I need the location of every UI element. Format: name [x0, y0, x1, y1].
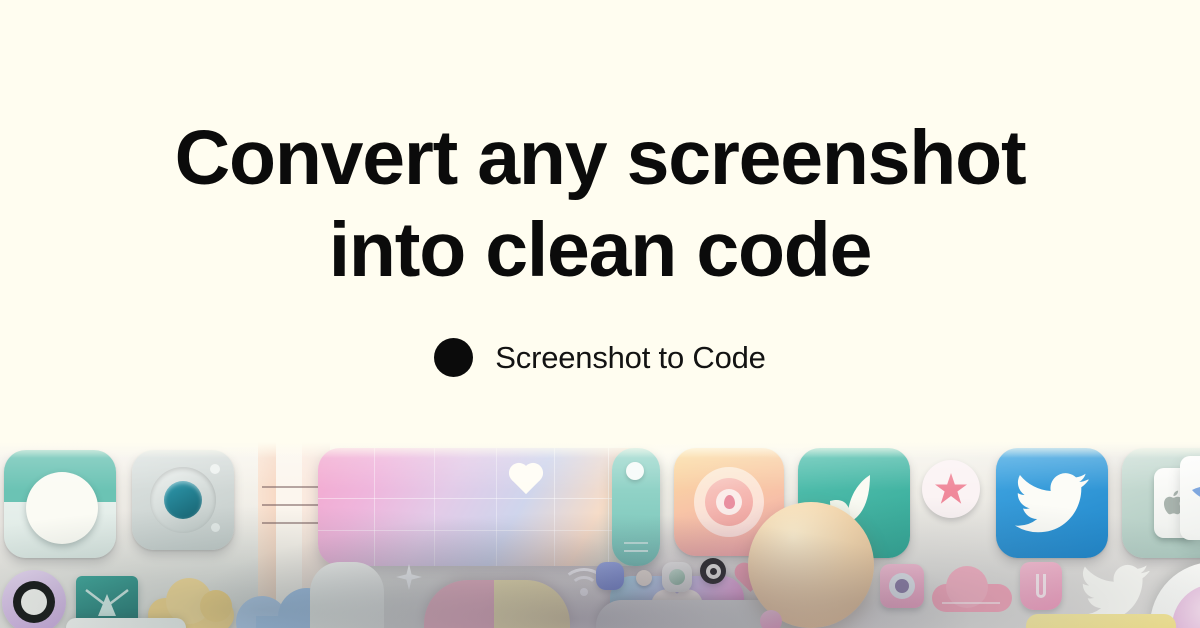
envelope-glyph-icon [84, 586, 130, 622]
headline-line-2: into clean code [175, 204, 1026, 296]
blue-square-icon [596, 562, 624, 590]
pink-camera-icon [880, 564, 924, 608]
lens-dot-icon [210, 464, 220, 474]
small-dot-icon [636, 570, 652, 586]
page-title: Convert any screenshot into clean code [175, 112, 1026, 296]
camera-lens-icon [132, 450, 234, 550]
peach-sphere [748, 502, 874, 628]
yellow-tile [1026, 614, 1176, 628]
app-icon-collage-image [0, 442, 1200, 628]
purple-ring-icon [2, 570, 66, 628]
pink-yellow-tile [424, 580, 570, 628]
pink-dot-icon [760, 610, 782, 628]
card-dot-icon [626, 462, 644, 480]
hero-section: Convert any screenshot into clean code S… [0, 0, 1200, 445]
headline-line-1: Convert any screenshot [175, 112, 1026, 204]
black-circle-logo-icon [434, 338, 473, 377]
small-bird-glyph-icon [1190, 474, 1200, 514]
sparkle-icon [396, 564, 422, 590]
pink-cloud-icon [932, 566, 1012, 612]
toggle-knob-icon [26, 472, 98, 544]
pink-star-icon [922, 460, 980, 518]
target-icon [700, 558, 726, 584]
brand-name: Screenshot to Code [495, 340, 765, 376]
white-blob-icon [310, 562, 384, 628]
lens-dot-2-icon [211, 523, 220, 532]
camera-small-icon [662, 562, 692, 592]
teal-toggle-icon [4, 450, 116, 558]
bird-card-icon [1180, 456, 1200, 540]
brand-lockup: Screenshot to Code [434, 338, 765, 377]
pink-badge-icon [1020, 562, 1062, 610]
heart-glyph-icon [512, 466, 540, 494]
teal-card-icon [612, 448, 660, 566]
pastel-grid-panel [318, 448, 658, 566]
lens-ring-icon [150, 467, 216, 533]
white-card-icon [66, 618, 186, 628]
twitter-glyph-icon [1015, 472, 1089, 534]
twitter-bird-icon [996, 448, 1108, 558]
